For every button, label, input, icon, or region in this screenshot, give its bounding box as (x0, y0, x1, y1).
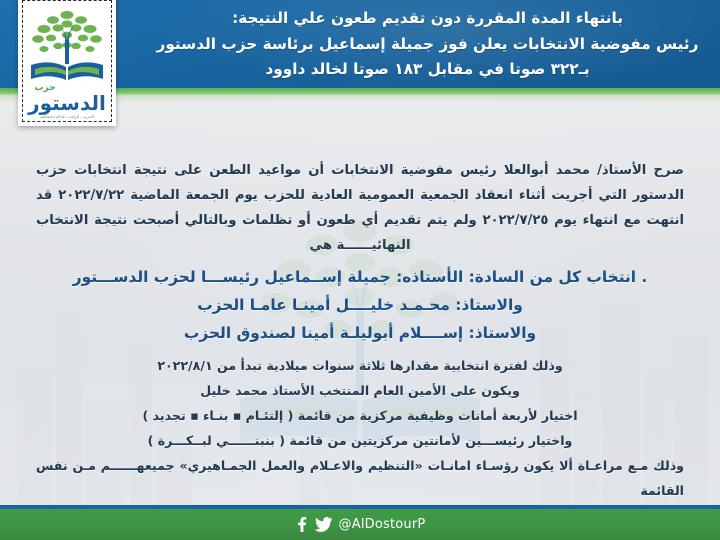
selection-rule-one: اختيار لأربعة أمانات وظيفية مركزية من قا… (36, 403, 684, 428)
elected-secretary-general: والاستاذ: محـمـد خليــــل أمينـا عامـا ا… (0, 291, 720, 319)
elected-officials-list: . انتخاب كل من السادة: الأستاذه: جميلة إ… (0, 263, 720, 347)
logo-dostour-text: الدستور (18, 93, 116, 114)
party-logo-card: حزب الدستور الحرية ـ كرامة ـ عدالة اجتما… (18, 0, 116, 126)
headline-line-2: رئيس مفوضية الانتخابات يعلن فوز جميلة إس… (155, 32, 700, 58)
twitter-icon[interactable] (315, 517, 332, 532)
logo-wordmark: حزب الدستور الحرية ـ كرامة ـ عدالة اجتما… (18, 84, 116, 120)
body-content: صرح الأستاذ/ محمد أبوالعلا رئيس مفوضية ا… (0, 104, 720, 504)
elected-president: . انتخاب كل من السادة: الأستاذه: جميلة إ… (0, 263, 720, 291)
selection-rule-two: واختيار رئيســـين لأمانتين مركزيتين من ق… (36, 428, 684, 453)
facebook-icon[interactable] (295, 517, 308, 532)
secretary-duty: ويكون على الأمين العام المنتخب الأستاذ م… (36, 378, 684, 403)
tree-and-book-icon (27, 4, 107, 88)
headline: بانتهاء المدة المقررة دون تقديم طعون علي… (155, 6, 700, 83)
headline-line-1: بانتهاء المدة المقررة دون تقديم طعون علي… (155, 6, 700, 32)
social-bar: @AlDostourP (0, 509, 720, 540)
selection-rule-three: وذلك مـع مراعـاة ألا يكون رؤسـاء امانـات… (36, 453, 684, 503)
social-handle[interactable]: @AlDostourP (339, 517, 426, 532)
term-duration: وذلك لفترة انتخابية مقدارها ثلاثة سنوات … (36, 353, 684, 378)
elected-treasurer: والاستاذ: إســــلام أبوليلـة أمينا لصندو… (0, 319, 720, 347)
announcement-poster: بانتهاء المدة المقررة دون تقديم طعون علي… (0, 0, 720, 540)
terms-section: وذلك لفترة انتخابية مقدارها ثلاثة سنوات … (36, 353, 684, 503)
intro-paragraph: صرح الأستاذ/ محمد أبوالعلا رئيس مفوضية ا… (36, 104, 684, 258)
headline-line-3: بـ٣٢٢ صوتا في مقابل ١٨٣ صوتا لخالد داوود (155, 57, 700, 83)
